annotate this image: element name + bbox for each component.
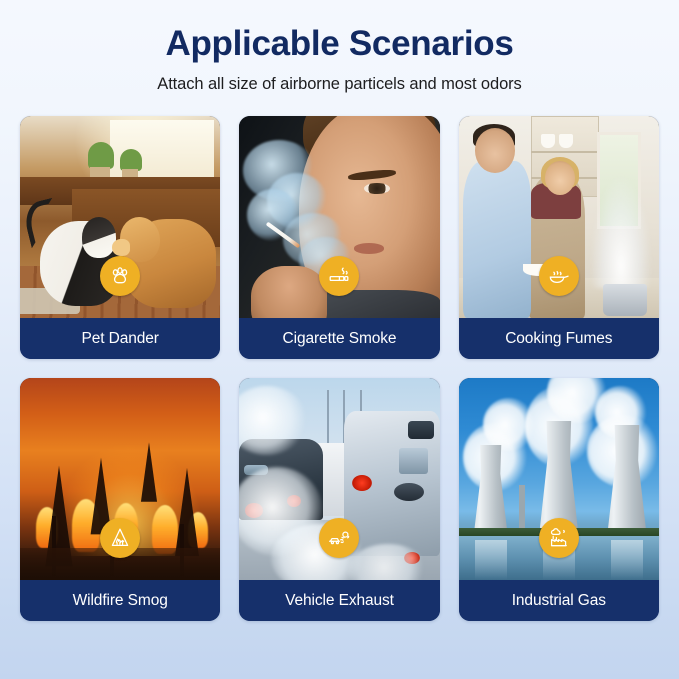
paw-print-icon [100, 256, 140, 296]
scenario-label: Cooking Fumes [459, 318, 659, 359]
factory-smokestack-icon [539, 518, 579, 558]
scenario-label: Wildfire Smog [20, 580, 220, 621]
scenario-label: Vehicle Exhaust [239, 580, 439, 621]
page-subtitle: Attach all size of airborne particels an… [20, 75, 659, 94]
frying-pan-icon [539, 256, 579, 296]
scenario-card-vehicle-exhaust[interactable]: Vehicle Exhaust [239, 378, 439, 621]
scenario-grid: Pet Dander [20, 116, 659, 621]
scenario-image-cooking-fumes [459, 116, 659, 318]
page-header: Applicable Scenarios Attach all size of … [20, 0, 659, 94]
car-exhaust-icon [319, 518, 359, 558]
scenario-image-pet-dander [20, 116, 220, 318]
applicable-scenarios-page: Applicable Scenarios Attach all size of … [0, 0, 679, 679]
cigarette-icon [319, 256, 359, 296]
scenario-image-industrial-gas [459, 378, 659, 580]
burning-trees-icon [100, 518, 140, 558]
scenario-card-industrial-gas[interactable]: Industrial Gas [459, 378, 659, 621]
scenario-card-pet-dander[interactable]: Pet Dander [20, 116, 220, 359]
scenario-card-cooking-fumes[interactable]: Cooking Fumes [459, 116, 659, 359]
scenario-image-vehicle-exhaust [239, 378, 439, 580]
scenario-image-cigarette-smoke [239, 116, 439, 318]
page-title: Applicable Scenarios [20, 24, 659, 63]
scenario-label: Cigarette Smoke [239, 318, 439, 359]
scenario-label: Pet Dander [20, 318, 220, 359]
scenario-card-wildfire-smog[interactable]: Wildfire Smog [20, 378, 220, 621]
scenario-label: Industrial Gas [459, 580, 659, 621]
scenario-image-wildfire-smog [20, 378, 220, 580]
scenario-card-cigarette-smoke[interactable]: Cigarette Smoke [239, 116, 439, 359]
